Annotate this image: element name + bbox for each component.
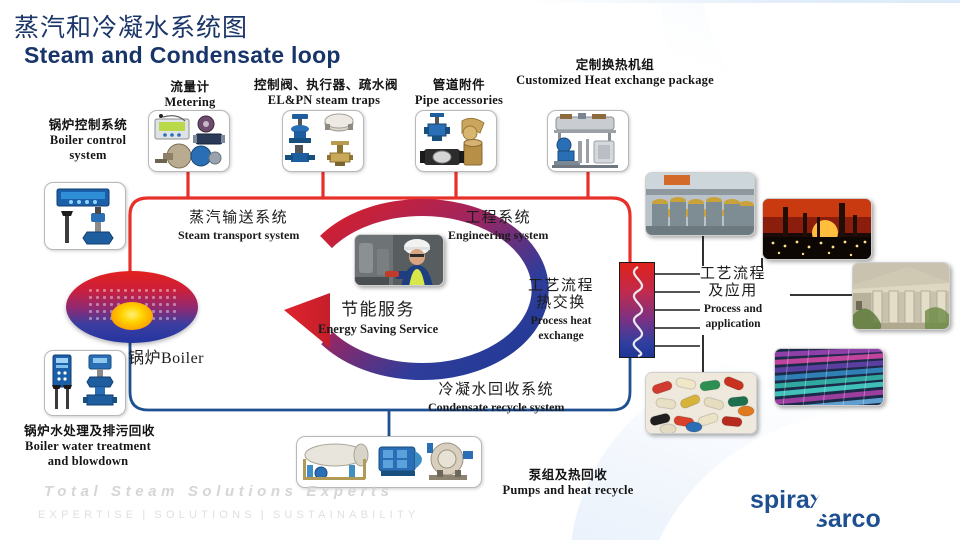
steam-transport-label: 蒸汽输送系统 Steam transport system [178, 210, 299, 243]
energy-saving-label: 节能服务 Energy Saving Service [318, 300, 438, 336]
heat-exchanger-coil [620, 263, 656, 359]
heat-exchange-skid-icon [548, 111, 628, 171]
background-swoosh-top-mask [700, 0, 960, 180]
engineer-photo-art [355, 235, 444, 286]
refinery-night-art [763, 199, 872, 260]
background-swoosh-top [660, 0, 960, 200]
process-application-label: 工艺流程 及应用 Process and application [700, 266, 766, 331]
textile-yarn-art [775, 349, 884, 406]
slide-canvas: 蒸汽和冷凝水系统图 Steam and Condensate loop [0, 0, 960, 540]
boiler-vessel-icon [66, 271, 198, 343]
boiler-water-label: 锅炉水处理及排污回收 Boiler water treatment and bl… [24, 424, 152, 468]
product-box-boiler-water[interactable] [44, 350, 126, 416]
page-title-cn: 蒸汽和冷凝水系统图 [14, 8, 248, 44]
application-photo-canning-line [645, 172, 755, 236]
process-heat-label: 工艺流程 热交换 Process heat exchange [528, 278, 594, 343]
heat-exchanger-icon [619, 262, 655, 358]
product-box-heat-package[interactable] [547, 110, 629, 172]
boiler-flame-icon [111, 302, 153, 330]
application-photo-pharma [645, 372, 757, 434]
product-box-pumps[interactable] [296, 436, 482, 488]
blowdown-vessel-icon [45, 351, 125, 415]
pillar-expertise: EXPERTISE [38, 509, 137, 521]
condensate-label: 冷凝水回收系统 Condensate recycle system [428, 382, 564, 415]
control-valve-icon [283, 111, 363, 171]
product-box-boiler-control[interactable] [44, 182, 126, 250]
boiler-control-panel-icon [45, 183, 125, 249]
spirax-sarco-logo-art: spirax sarco [750, 486, 946, 532]
product-box-steam-traps[interactable] [282, 110, 364, 172]
pipe-fitting-icon [416, 111, 496, 171]
flow-meter-icon [149, 111, 229, 171]
metering-label: 流量计 Metering [148, 80, 232, 109]
pillar-solutions: SOLUTIONS [154, 509, 255, 521]
pillars-watermark: EXPERTISE|SOLUTIONS|SUSTAINABILITY [38, 509, 419, 521]
application-photo-institution [852, 262, 950, 330]
product-box-pipe-accessories[interactable] [415, 110, 497, 172]
engineer-photo [354, 234, 444, 286]
page-title-en: Steam and Condensate loop [24, 42, 341, 69]
boiler-label: 锅炉Boiler [128, 350, 204, 368]
pharma-pills-art [646, 373, 757, 434]
institution-building-art [853, 263, 950, 330]
product-box-metering[interactable] [148, 110, 230, 172]
steam-traps-label: 控制阀、执行器、疏水阀 EL&PN steam traps [254, 78, 394, 107]
pillar-sustainability: SUSTAINABILITY [273, 509, 420, 521]
spirax-sarco-logo: spirax sarco [750, 486, 946, 532]
application-photo-refinery [762, 198, 872, 260]
background-top-line [0, 0, 960, 3]
heat-package-label: 定制换热机组 Customized Heat exchange package [486, 58, 744, 87]
condensate-pump-icon [297, 437, 481, 487]
canning-line-art [646, 173, 755, 236]
boiler-control-label: 锅炉控制系统 Boiler control system [36, 118, 140, 162]
application-photo-textile [774, 348, 884, 406]
tagline-watermark: Total Steam Solutions Experts [44, 483, 394, 500]
pumps-label: 泵组及热回收 Pumps and heat recycle [492, 468, 644, 497]
engineering-label: 工程系统 Engineering system [448, 210, 548, 243]
